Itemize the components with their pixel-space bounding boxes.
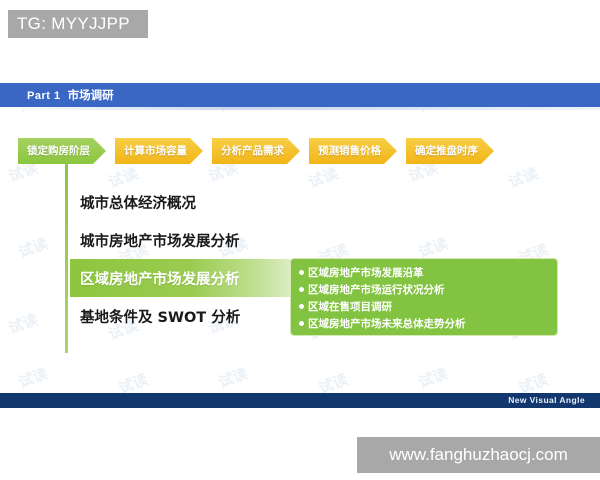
process-arrow-2[interactable]: 计算市场容量 (115, 138, 203, 164)
watermark-text: 试读 (5, 309, 40, 339)
slide-footer-bar: New Visual Angle (0, 393, 600, 408)
watermark-text: 试读 (415, 363, 450, 393)
bullet-dot-icon (299, 321, 304, 326)
tg-label: TG: MYYJJPP (8, 10, 148, 38)
outline-item-4[interactable]: 基地条件及 SWOT 分析 (70, 297, 290, 335)
detail-bullet-label: 区域房地产市场未来总体走势分析 (308, 316, 466, 331)
slide-header-bar: Part 1市场调研 (0, 83, 600, 107)
detail-bullet-item: 区域房地产市场未来总体走势分析 (299, 315, 557, 332)
detail-bullet-label: 区域房地产市场运行状况分析 (308, 282, 445, 297)
detail-bullet-item: 区域房地产市场发展沿革 (299, 264, 557, 281)
process-arrow-row: 锁定购房阶层 计算市场容量 分析产品需求 预测销售价格 确定推盘时序 (18, 137, 503, 165)
process-arrow-5[interactable]: 确定推盘时序 (406, 138, 494, 164)
watermark-text: 试读 (505, 163, 540, 193)
watermark-text: 试读 (15, 363, 50, 393)
outline-item-1[interactable]: 城市总体经济概况 (70, 183, 290, 221)
detail-bullet-item: 区域在售项目调研 (299, 298, 557, 315)
bullet-dot-icon (299, 304, 304, 309)
bullet-dot-icon (299, 287, 304, 292)
slide-header-title: 市场调研 (68, 88, 114, 102)
process-arrow-4[interactable]: 预测销售价格 (309, 138, 397, 164)
watermark-text: 试读 (215, 363, 250, 393)
footer-brand-label: New Visual Angle (508, 393, 585, 408)
outline-list: 城市总体经济概况 城市房地产市场发展分析 区域房地产市场发展分析 基地条件及 S… (70, 183, 290, 335)
slide-canvas: 试读 试读 试读 试读 试读 试读 试读 试读 试读 试读 试读 试读 试读 试… (0, 75, 600, 415)
detail-bullet-label: 区域在售项目调研 (308, 299, 392, 314)
watermark-text: 试读 (15, 233, 50, 263)
watermark-text: 试读 (305, 163, 340, 193)
slide-header-underline (0, 107, 600, 110)
slide-header-text: Part 1市场调研 (27, 83, 114, 107)
process-arrow-3[interactable]: 分析产品需求 (212, 138, 300, 164)
outline-item-2[interactable]: 城市房地产市场发展分析 (70, 221, 290, 259)
bullet-dot-icon (299, 270, 304, 275)
url-banner: www.fanghuzhaocj.com (357, 437, 600, 473)
outline-item-3-selected[interactable]: 区域房地产市场发展分析 (70, 259, 290, 297)
detail-bullet-panel: 区域房地产市场发展沿革 区域房地产市场运行状况分析 区域在售项目调研 区域房地产… (290, 258, 558, 336)
detail-bullet-item: 区域房地产市场运行状况分析 (299, 281, 557, 298)
connector-line (65, 163, 68, 353)
detail-bullet-label: 区域房地产市场发展沿革 (308, 265, 424, 280)
process-arrow-1[interactable]: 锁定购房阶层 (18, 138, 106, 164)
slide-header-part: Part 1 (27, 90, 61, 102)
